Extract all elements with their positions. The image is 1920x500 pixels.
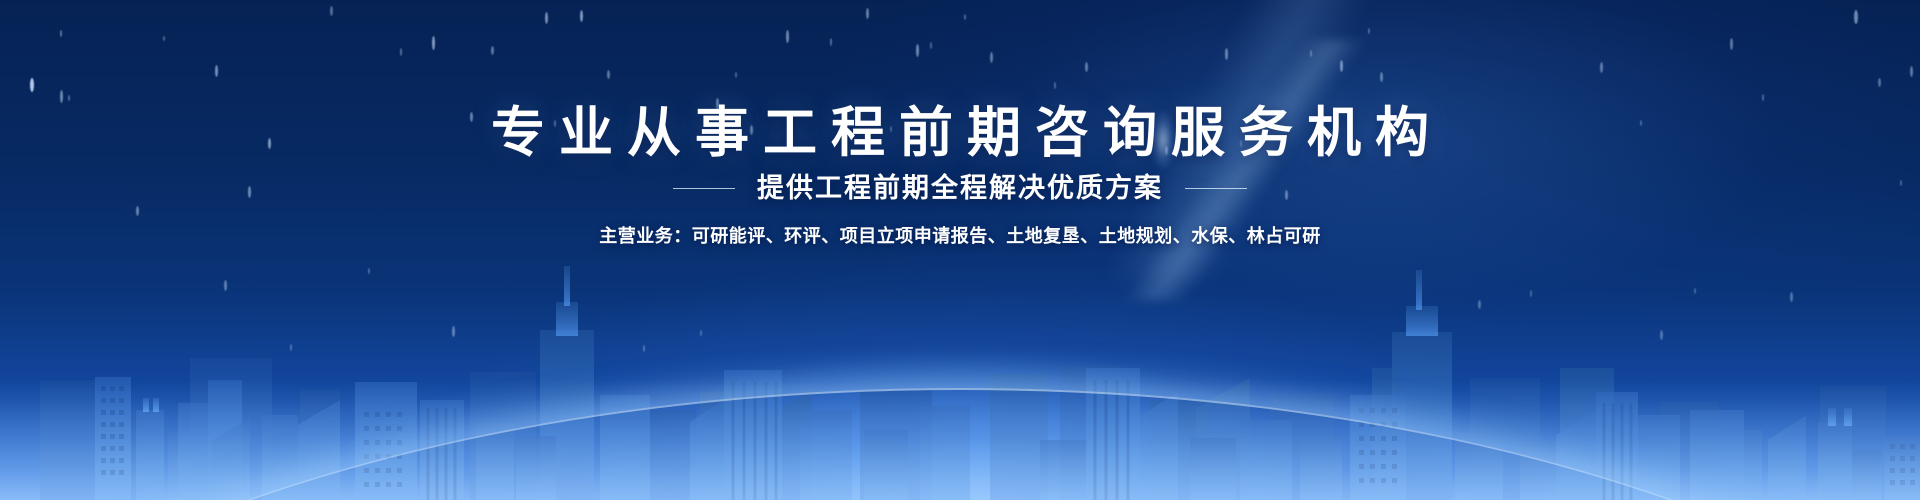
star-particle <box>1380 72 1383 82</box>
skyline-far-layer <box>40 358 1886 500</box>
banner-subtitle-row: 提供工程前期全程解决优质方案 <box>0 175 1920 202</box>
light-streak-secondary <box>1090 40 1390 300</box>
star-particle <box>1878 78 1881 87</box>
star-particle <box>786 30 789 43</box>
banner-business-line: 主营业务：可研能评、环评、项目立项申请报告、土地复垦、土地规划、水保、林占可研 <box>0 222 1920 248</box>
star-particle <box>1085 62 1088 72</box>
star-particle <box>290 344 292 351</box>
star-particle <box>452 326 455 337</box>
star-particle <box>607 70 610 79</box>
star-particle <box>400 48 402 56</box>
star-particle <box>1530 290 1532 297</box>
banner-subtitle: 提供工程前期全程解决优质方案 <box>757 175 1163 202</box>
star-particle <box>643 345 645 352</box>
star-particle <box>580 10 583 22</box>
star-particle <box>1910 66 1913 77</box>
star-particle <box>930 42 932 49</box>
star-particle <box>1310 50 1312 57</box>
star-particle <box>1660 330 1663 340</box>
star-particle <box>545 12 548 24</box>
star-particle <box>735 72 737 78</box>
decorative-rule-right <box>1185 188 1247 189</box>
star-particle <box>1694 288 1696 294</box>
star-particle <box>1730 38 1733 50</box>
star-particle <box>136 206 139 216</box>
city-skyline <box>0 240 1920 500</box>
star-particle <box>700 330 702 336</box>
window-grid <box>101 386 124 475</box>
star-particle <box>964 14 966 20</box>
star-particle <box>60 90 63 103</box>
star-particle <box>68 95 70 101</box>
star-particle <box>224 280 227 291</box>
star-field <box>0 0 1920 500</box>
horizon-arc-line <box>0 388 1920 500</box>
bottom-light-wash <box>0 380 1920 500</box>
star-particle <box>432 36 435 50</box>
star-particle <box>916 44 919 57</box>
banner-content: 专业从事工程前期咨询服务机构 提供工程前期全程解决优质方案 主营业务：可研能评、… <box>0 0 1920 500</box>
star-particle <box>990 52 993 63</box>
skyline-mid-layer <box>540 266 1614 500</box>
star-particle <box>1790 292 1793 302</box>
star-particle <box>866 8 869 19</box>
star-particle <box>368 268 370 274</box>
decorative-rule-left <box>673 188 735 189</box>
banner-headline: 专业从事工程前期咨询服务机构 <box>0 106 1920 160</box>
star-particle <box>163 36 165 41</box>
star-particle <box>215 65 218 77</box>
star-particle <box>1340 60 1343 72</box>
hero-banner: 专业从事工程前期咨询服务机构 提供工程前期全程解决优质方案 主营业务：可研能评、… <box>0 0 1920 500</box>
star-particle <box>60 30 62 37</box>
horizon-glow <box>0 370 1920 500</box>
star-particle <box>491 46 494 55</box>
star-particle <box>1762 94 1764 101</box>
star-particle <box>1600 62 1603 73</box>
star-particle <box>1478 300 1481 309</box>
star-particle <box>1054 82 1056 89</box>
star-particle <box>830 38 832 46</box>
star-particle <box>330 6 333 16</box>
star-particle <box>1854 10 1858 24</box>
skyline-near-layer <box>95 368 1920 500</box>
star-particle <box>1225 48 1228 60</box>
star-particle <box>30 78 34 92</box>
star-particle <box>1368 28 1370 34</box>
